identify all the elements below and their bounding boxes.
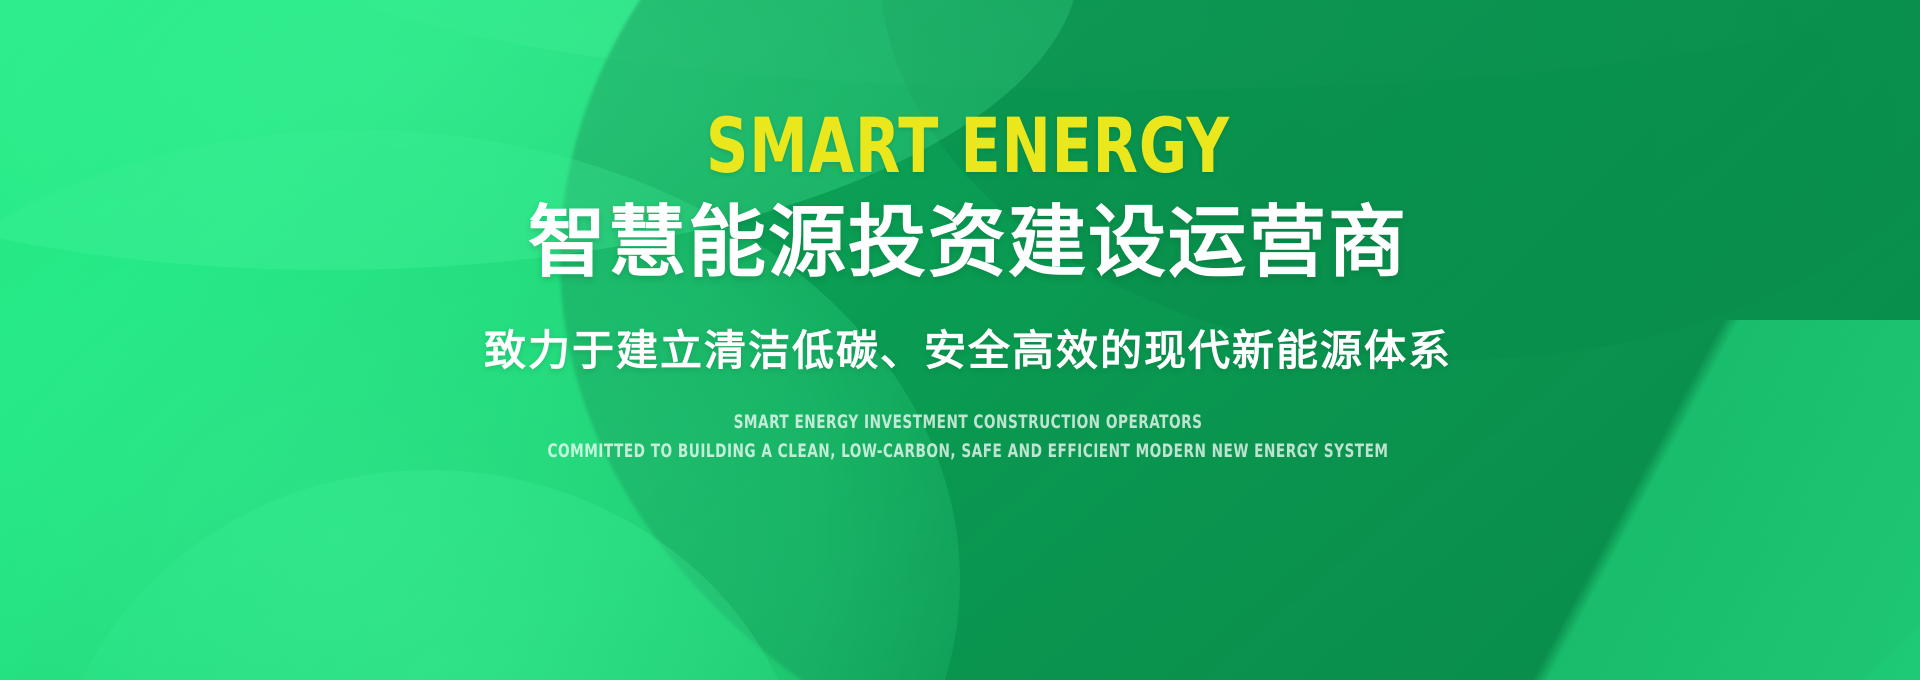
banner-eyebrow-english: SMART ENERGY: [516, 108, 1420, 184]
banner-subheadline-chinese: 致力于建立清洁低碳、安全高效的现代新能源体系: [442, 326, 1493, 376]
banner-text-block: SMART ENERGY 智慧能源投资建设运营商 致力于建立清洁低碳、安全高效的…: [442, 108, 1493, 466]
banner-content: SMART ENERGY 智慧能源投资建设运营商 致力于建立清洁低碳、安全高效的…: [0, 0, 1920, 680]
banner-caption-english-line-1: SMART ENERGY INVESTMENT CONSTRUCTION OPE…: [547, 409, 1388, 437]
banner-headline-chinese: 智慧能源投资建设运营商: [442, 200, 1493, 284]
hero-banner: SMART ENERGY 智慧能源投资建设运营商 致力于建立清洁低碳、安全高效的…: [0, 0, 1920, 680]
banner-caption-english-line-2: COMMITTED TO BUILDING A CLEAN, LOW-CARBO…: [547, 438, 1388, 466]
